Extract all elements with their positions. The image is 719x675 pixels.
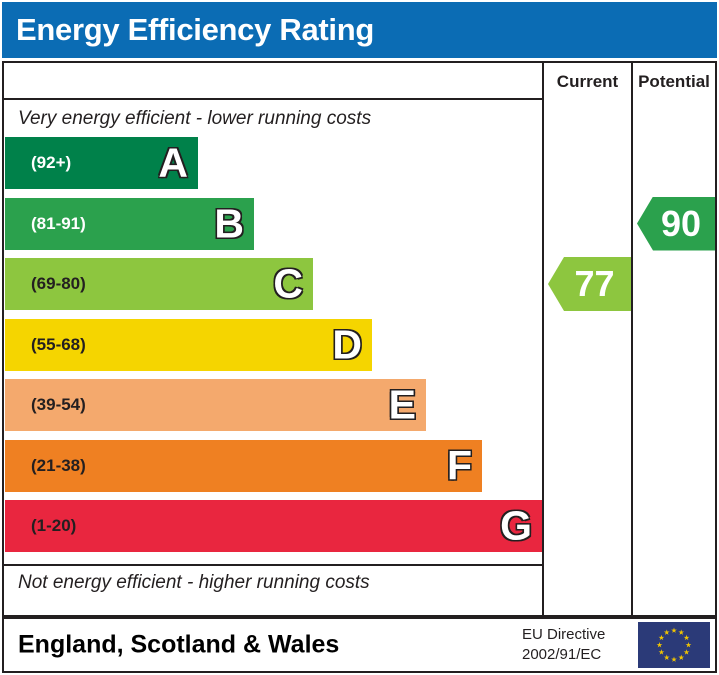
band-bar-a: (92+)A xyxy=(5,137,198,189)
page-title: Energy Efficiency Rating xyxy=(16,12,374,48)
bottom-caption-rule xyxy=(4,564,542,566)
band-bar-d: (55-68)D xyxy=(5,319,372,371)
band-bar-b: (81-91)B xyxy=(5,198,254,250)
band-range-d: (55-68) xyxy=(31,335,86,355)
current-rating-badge: 77 xyxy=(548,257,631,311)
band-range-b: (81-91) xyxy=(31,214,86,234)
band-bar-e: (39-54)E xyxy=(5,379,426,431)
column-header-potential: Potential xyxy=(633,69,715,95)
header-rule xyxy=(4,98,542,100)
column-divider-potential xyxy=(631,63,633,615)
band-range-g: (1-20) xyxy=(31,516,76,536)
band-range-a: (92+) xyxy=(31,153,71,173)
band-letter-a: A xyxy=(158,143,188,184)
directive-line-2: 2002/91/EC xyxy=(522,645,605,665)
band-bars: (92+)A(81-91)B(69-80)C(55-68)D(39-54)E(2… xyxy=(4,137,542,564)
band-range-e: (39-54) xyxy=(31,395,86,415)
directive-line-1: EU Directive xyxy=(522,625,605,645)
footer-region-label: England, Scotland & Wales xyxy=(18,631,339,660)
column-divider-current xyxy=(542,63,544,615)
band-bar-f: (21-38)F xyxy=(5,440,482,492)
eu-flag-icon xyxy=(638,622,710,668)
band-bar-c: (69-80)C xyxy=(5,258,313,310)
caption-top: Very energy efficient - lower running co… xyxy=(18,108,371,130)
band-bar-g: (1-20)G xyxy=(5,500,542,552)
band-range-f: (21-38) xyxy=(31,456,86,476)
footer-directive: EU Directive 2002/91/EC xyxy=(522,625,605,666)
energy-efficiency-certificate: Energy Efficiency Rating Current Potenti… xyxy=(0,0,719,675)
band-letter-d: D xyxy=(332,324,362,365)
band-letter-c: C xyxy=(273,264,303,305)
title-bar: Energy Efficiency Rating xyxy=(2,2,717,58)
band-letter-e: E xyxy=(389,385,416,426)
rating-table: Current Potential Very energy efficient … xyxy=(2,61,717,617)
column-header-current: Current xyxy=(544,69,631,95)
band-letter-f: F xyxy=(447,445,472,486)
band-letter-g: G xyxy=(500,506,532,547)
caption-bottom: Not energy efficient - higher running co… xyxy=(18,572,370,594)
potential-rating-badge: 90 xyxy=(637,197,715,251)
footer-bar: England, Scotland & Wales EU Directive 2… xyxy=(2,617,717,673)
band-letter-b: B xyxy=(214,203,244,244)
band-range-c: (69-80) xyxy=(31,274,86,294)
